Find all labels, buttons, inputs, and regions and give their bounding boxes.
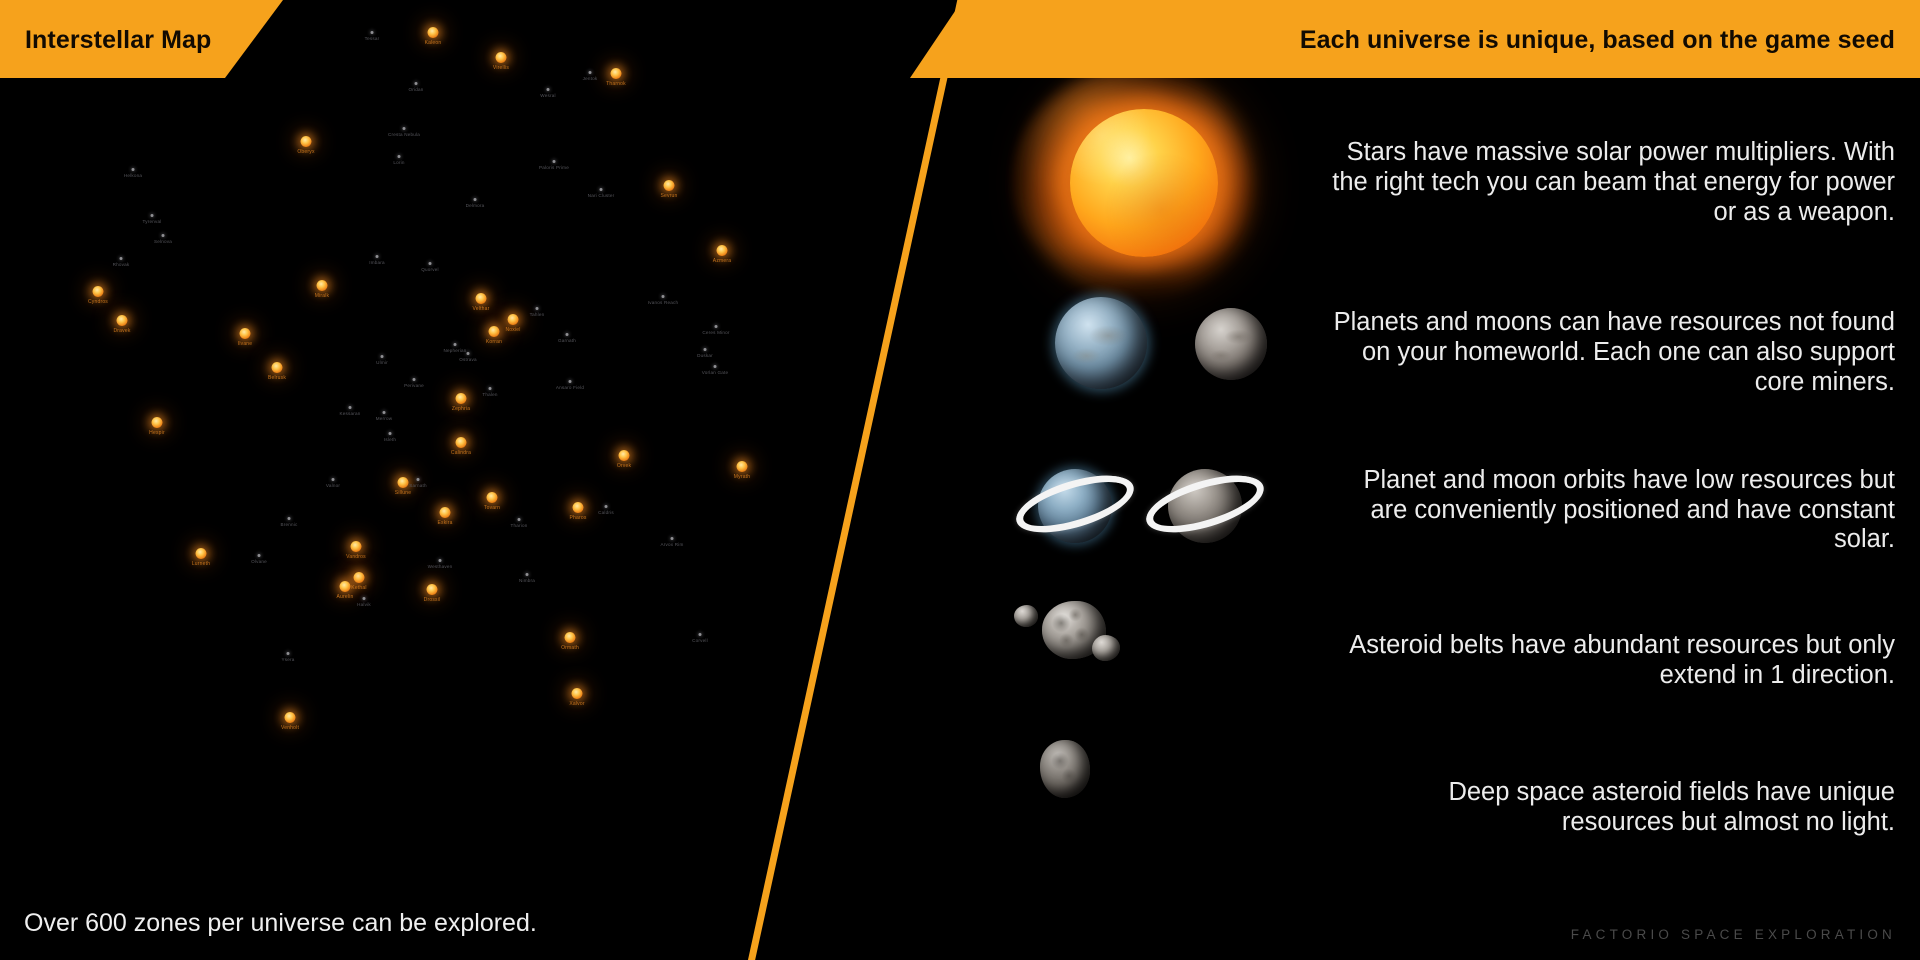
star-label: Azmera — [713, 259, 731, 264]
system-dot-icon — [566, 333, 569, 336]
star-label: Wesral — [540, 94, 555, 99]
star-label: Garnath — [558, 339, 576, 344]
star-label: Ceres Minor — [702, 331, 729, 336]
info-row-star: Stars have massive solar power multiplie… — [1000, 78, 1920, 288]
system-dot-icon — [526, 573, 529, 576]
star-label: Ansaro Field — [556, 386, 584, 391]
star-label: Olvane — [251, 560, 267, 565]
system-dot-icon — [349, 406, 352, 409]
star-label: Zephria — [452, 407, 470, 412]
asteroid-belt-graphic — [1000, 583, 1330, 738]
star-label: Selnova — [154, 240, 172, 245]
star-label: Belrusk — [268, 376, 286, 381]
system-dot-icon — [699, 633, 702, 636]
moon-icon — [1195, 308, 1267, 380]
star-label: Jentok — [583, 77, 598, 82]
system-dot-icon — [714, 365, 717, 368]
system-dot-icon — [258, 554, 261, 557]
star-label: Kethal — [351, 586, 366, 591]
system-dot-icon — [376, 255, 379, 258]
system-dot-icon — [287, 652, 290, 655]
system-dot-icon — [417, 478, 420, 481]
star-label: Perivane — [404, 384, 424, 389]
star-label: Sarnath — [409, 484, 427, 489]
star-dot-icon — [456, 393, 467, 404]
system-dot-icon — [363, 597, 366, 600]
star-dot-icon — [508, 314, 519, 325]
star-label: Isleth — [384, 438, 396, 443]
system-dot-icon — [120, 257, 123, 260]
star-label: Venholt — [281, 726, 299, 731]
system-dot-icon — [371, 31, 374, 34]
system-dot-icon — [429, 262, 432, 265]
info-row-belt: Asteroid belts have abundant resources b… — [1000, 583, 1920, 738]
system-dot-icon — [474, 198, 477, 201]
star-dot-icon — [196, 548, 207, 559]
info-row-planet: Planets and moons can have resources not… — [1000, 263, 1920, 443]
system-dot-icon — [536, 307, 539, 310]
star-label: Cyndros — [88, 300, 108, 305]
star-label: Eskira — [437, 521, 452, 526]
star-dot-icon — [93, 286, 104, 297]
star-label: Nimbra — [519, 579, 535, 584]
star-label: Arvox Rim — [661, 543, 684, 548]
star-label: Nepherian — [444, 349, 467, 354]
system-dot-icon — [381, 355, 384, 358]
system-dot-icon — [454, 343, 457, 346]
star-dot-icon — [272, 362, 283, 373]
page-title: Interstellar Map — [25, 26, 211, 55]
interstellar-map-screen: KaleonVirellisTharnokOberyxSevrunAzmeraM… — [0, 0, 1920, 960]
info-text-orbit: Planet and moon orbits have low resource… — [1330, 466, 1920, 555]
system-dot-icon — [398, 155, 401, 158]
star-label: Calindra — [451, 451, 471, 456]
footer-caption: Over 600 zones per universe can be explo… — [24, 909, 537, 938]
star-dot-icon — [737, 461, 748, 472]
star-label: Ulmir — [376, 361, 388, 366]
star-label: Delmora — [466, 204, 485, 209]
system-dot-icon — [662, 295, 665, 298]
system-dot-icon — [467, 352, 470, 355]
system-dot-icon — [569, 380, 572, 383]
system-dot-icon — [151, 214, 154, 217]
star-label: Corvell — [692, 639, 708, 644]
system-dot-icon — [704, 348, 707, 351]
star-dot-icon — [340, 581, 351, 592]
star-label: Drossil — [424, 598, 441, 603]
info-text-star: Stars have massive solar power multiplie… — [1330, 138, 1920, 227]
star-dot-icon — [285, 712, 296, 723]
star-label: Hespir — [149, 431, 165, 436]
star-label: Dravek — [113, 329, 130, 334]
system-dot-icon — [288, 517, 291, 520]
star-label: Halvik — [357, 603, 371, 608]
star-label: Tovarn — [484, 506, 500, 511]
info-row-deep-space: Deep space asteroid fields have unique r… — [1000, 728, 1920, 888]
star-label: Merrow — [376, 417, 393, 422]
star-dot-icon — [152, 417, 163, 428]
star-label: Brennic — [281, 523, 298, 528]
info-text-planet: Planets and moons can have resources not… — [1330, 308, 1920, 397]
system-dot-icon — [600, 188, 603, 191]
star-dot-icon — [496, 52, 507, 63]
system-dot-icon — [415, 82, 418, 85]
star-label: Tessar — [365, 37, 380, 42]
star-label: Quorvel — [421, 268, 439, 273]
star-dot-icon — [487, 492, 498, 503]
star-dot-icon — [240, 328, 251, 339]
star-label: Sevrun — [660, 194, 677, 199]
star-label: Oberyx — [297, 150, 314, 155]
system-dot-icon — [439, 559, 442, 562]
star-label: Oridan — [409, 88, 424, 93]
star-label: Noxiel — [505, 328, 520, 333]
star-graphic — [1000, 78, 1330, 288]
star-label: Duskar — [697, 354, 713, 359]
system-dot-icon — [489, 387, 492, 390]
star-label: Korran — [486, 340, 502, 345]
star-label: Ysera — [281, 658, 294, 663]
info-panel: Stars have massive solar power multiplie… — [1000, 78, 1920, 960]
star-dot-icon — [717, 245, 728, 256]
star-label: Rhovak — [113, 263, 130, 268]
star-dot-icon — [573, 502, 584, 513]
star-label: Aurelin — [337, 595, 354, 600]
star-label: Kessaran — [339, 412, 360, 417]
star-label: Lurneth — [192, 562, 210, 567]
star-dot-icon — [301, 136, 312, 147]
star-label: Tahlen — [530, 313, 545, 318]
star-label: Tharion — [511, 524, 528, 529]
star-label: Helkona — [124, 174, 142, 179]
star-dot-icon — [572, 688, 583, 699]
system-dot-icon — [403, 127, 406, 130]
star-dot-icon — [351, 541, 362, 552]
star-label: Orvek — [617, 464, 631, 469]
planet-moon-graphic — [1000, 263, 1330, 443]
system-dot-icon — [671, 537, 674, 540]
system-dot-icon — [547, 88, 550, 91]
star-dot-icon — [664, 180, 675, 191]
star-label: Sillune — [395, 491, 411, 496]
sun-disc-icon — [1070, 109, 1218, 257]
deep-space-asteroid-icon — [1040, 740, 1090, 798]
system-dot-icon — [383, 411, 386, 414]
info-text-belt: Asteroid belts have abundant resources b… — [1330, 631, 1920, 691]
star-label: Ostrava — [459, 358, 476, 363]
star-label: Caldris — [598, 511, 614, 516]
deep-space-graphic — [1000, 728, 1330, 888]
star-label: Velthar — [473, 307, 490, 312]
star-dot-icon — [354, 572, 365, 583]
star-dot-icon — [440, 507, 451, 518]
star-label: Ormath — [561, 646, 579, 651]
system-dot-icon — [132, 168, 135, 171]
header-tagline: Each universe is unique, based on the ga… — [1300, 26, 1895, 55]
ringed-moon-icon — [1140, 451, 1270, 561]
star-dot-icon — [427, 584, 438, 595]
system-dot-icon — [553, 160, 556, 163]
star-label: Imbara — [369, 261, 385, 266]
system-dot-icon — [715, 325, 718, 328]
star-label: Cresta Nebula — [388, 133, 420, 138]
star-label: Vandros — [346, 555, 366, 560]
star-label: Thalen — [482, 393, 497, 398]
star-label: Myrath — [734, 475, 750, 480]
star-dot-icon — [489, 326, 500, 337]
star-label: Tharnok — [606, 82, 626, 87]
star-label: Ivanos Reach — [648, 301, 679, 306]
ringed-planet-icon — [1010, 451, 1140, 561]
star-label: Lorin — [393, 161, 404, 166]
star-label: Ilvane — [238, 342, 253, 347]
star-dot-icon — [317, 280, 328, 291]
info-text-deep-space: Deep space asteroid fields have unique r… — [1330, 778, 1920, 838]
star-dot-icon — [456, 437, 467, 448]
system-dot-icon — [389, 432, 392, 435]
star-dot-icon — [476, 293, 487, 304]
system-dot-icon — [605, 505, 608, 508]
system-dot-icon — [332, 478, 335, 481]
star-dot-icon — [611, 68, 622, 79]
star-dot-icon — [428, 27, 439, 38]
star-label: Paloris Prime — [539, 166, 569, 171]
star-dot-icon — [398, 477, 409, 488]
header-right-banner: Each universe is unique, based on the ga… — [910, 0, 1920, 78]
star-label: Virellis — [493, 66, 509, 71]
star-label: Kaleon — [425, 41, 442, 46]
star-dot-icon — [117, 315, 128, 326]
star-label: Miralk — [315, 294, 330, 299]
star-label: Xalvor — [569, 702, 584, 707]
info-row-orbit: Planet and moon orbits have low resource… — [1000, 423, 1920, 598]
system-dot-icon — [518, 518, 521, 521]
system-dot-icon — [413, 378, 416, 381]
footer-watermark: FACTORIO SPACE EXPLORATION — [1571, 927, 1896, 942]
star-label: Westhaven — [428, 565, 453, 570]
star-label: Nari Cluster — [588, 194, 615, 199]
orbit-graphic — [1000, 423, 1330, 598]
star-label: Pharos — [569, 516, 586, 521]
planet-icon — [1055, 297, 1147, 389]
asteroid-small-right-icon — [1092, 635, 1120, 661]
star-label: Vorlan Gate — [702, 371, 728, 376]
star-label: Tyrenval — [143, 220, 162, 225]
star-label: Valnor — [326, 484, 340, 489]
asteroid-small-left-icon — [1014, 605, 1038, 627]
system-dot-icon — [162, 234, 165, 237]
star-dot-icon — [619, 450, 630, 461]
star-dot-icon — [565, 632, 576, 643]
system-dot-icon — [589, 71, 592, 74]
